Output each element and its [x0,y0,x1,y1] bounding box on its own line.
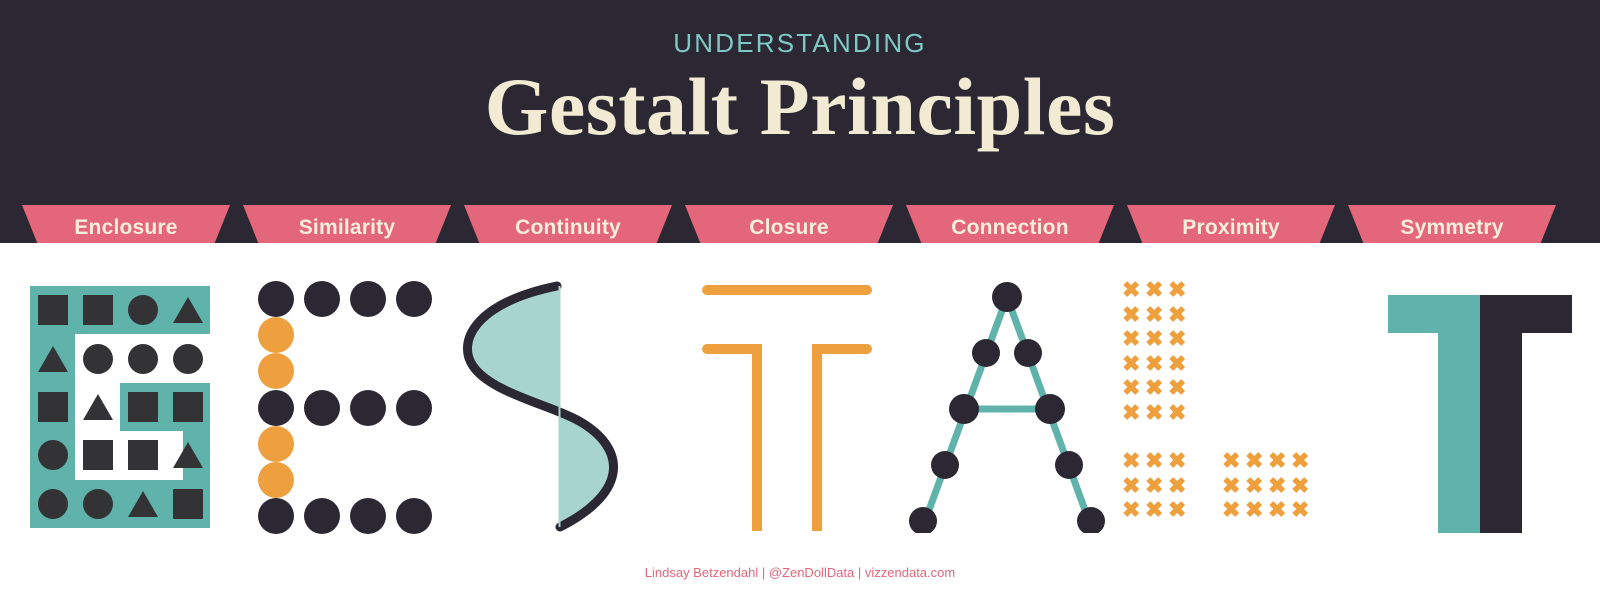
similarity-dot-orange [258,317,294,353]
similarity-dot-dark [396,281,432,317]
proximity-x-icon: ✖ [1291,475,1309,497]
enclosure-triangle-icon [38,346,68,372]
proximity-x-icon: ✖ [1168,450,1186,472]
proximity-x-icon: ✖ [1168,279,1186,301]
proximity-x-icon: ✖ [1122,377,1140,399]
proximity-x-icon: ✖ [1268,499,1286,521]
proximity-x-icon: ✖ [1145,499,1163,521]
proximity-x-icon: ✖ [1145,450,1163,472]
proximity-x-icon: ✖ [1145,402,1163,424]
similarity-dot-dark [258,281,294,317]
enclosure-square-icon [128,392,158,422]
enclosure-square-icon [83,440,113,470]
proximity-x-icon: ✖ [1122,328,1140,350]
header-kicker: UNDERSTANDING [0,28,1600,59]
proximity-x-icon: ✖ [1145,304,1163,326]
similarity-dot-dark [304,498,340,534]
proximity-x-icon: ✖ [1122,402,1140,424]
proximity-x-icon: ✖ [1122,450,1140,472]
proximity-x-icon: ✖ [1122,475,1140,497]
similarity-dot-dark [258,498,294,534]
infographic-canvas: UNDERSTANDING Gestalt Principles Enclosu… [0,0,1600,600]
closure-right-bracket [817,349,867,531]
illustration-enclosure [30,286,210,528]
enclosure-triangle-icon [83,394,113,420]
proximity-x-icon: ✖ [1145,475,1163,497]
enclosure-triangle-icon [173,297,203,323]
symmetry-right-half [1480,295,1572,533]
illustration-similarity [258,281,430,531]
proximity-x-icon: ✖ [1268,475,1286,497]
similarity-dot-orange [258,426,294,462]
page-title: Gestalt Principles [0,64,1600,150]
proximity-x-icon: ✖ [1122,499,1140,521]
enclosure-circle-icon [173,344,203,374]
enclosure-circle-icon [128,344,158,374]
proximity-x-icon: ✖ [1168,377,1186,399]
illustration-proximity: ✖✖✖✖✖✖✖✖✖✖✖✖✖✖✖✖✖✖✖✖✖✖✖✖✖✖✖✖✖✖✖✖✖✖✖✖✖✖✖ [1122,279,1342,531]
proximity-x-icon: ✖ [1145,377,1163,399]
proximity-x-icon: ✖ [1268,450,1286,472]
symmetry-left-half [1388,295,1480,533]
proximity-x-icon: ✖ [1168,353,1186,375]
enclosure-triangle-icon [128,491,158,517]
footer-credit: Lindsay Betzendahl | @ZenDollData | vizz… [0,565,1600,580]
closure-left-bracket [707,349,757,531]
proximity-x-icon: ✖ [1168,475,1186,497]
enclosure-square-icon [173,392,203,422]
enclosure-triangle-icon [173,442,203,468]
proximity-x-icon: ✖ [1245,499,1263,521]
proximity-x-icon: ✖ [1145,353,1163,375]
proximity-x-icon: ✖ [1222,450,1240,472]
proximity-x-icon: ✖ [1168,402,1186,424]
illustration-symmetry [1388,295,1572,533]
proximity-x-icon: ✖ [1245,475,1263,497]
enclosure-circle-icon [83,489,113,519]
similarity-dot-orange [258,353,294,389]
enclosure-circle-icon [83,344,113,374]
illustration-closure [695,281,880,531]
letter-illustration-area: ✖✖✖✖✖✖✖✖✖✖✖✖✖✖✖✖✖✖✖✖✖✖✖✖✖✖✖✖✖✖✖✖✖✖✖✖✖✖✖ [0,243,1600,600]
proximity-x-icon: ✖ [1168,499,1186,521]
similarity-dot-dark [350,498,386,534]
proximity-x-icon: ✖ [1168,328,1186,350]
enclosure-square-icon [38,392,68,422]
similarity-dot-dark [350,281,386,317]
similarity-dot-orange [258,462,294,498]
proximity-x-icon: ✖ [1245,450,1263,472]
proximity-x-icon: ✖ [1168,304,1186,326]
proximity-x-icon: ✖ [1122,279,1140,301]
proximity-x-icon: ✖ [1291,450,1309,472]
enclosure-circle-icon [38,489,68,519]
proximity-x-icon: ✖ [1122,304,1140,326]
similarity-dot-dark [304,390,340,426]
proximity-x-icon: ✖ [1122,353,1140,375]
proximity-x-icon: ✖ [1145,279,1163,301]
enclosure-circle-icon [38,440,68,470]
similarity-dot-dark [396,498,432,534]
enclosure-square-icon [128,440,158,470]
similarity-dot-dark [258,390,294,426]
proximity-x-icon: ✖ [1222,499,1240,521]
similarity-dot-dark [350,390,386,426]
illustration-connection [900,281,1115,533]
similarity-dot-dark [304,281,340,317]
proximity-x-icon: ✖ [1222,475,1240,497]
enclosure-square-icon [83,295,113,325]
illustration-continuity [455,281,670,533]
proximity-x-icon: ✖ [1145,328,1163,350]
similarity-dot-dark [396,390,432,426]
enclosure-circle-icon [128,295,158,325]
proximity-x-icon: ✖ [1291,499,1309,521]
enclosure-square-icon [38,295,68,325]
enclosure-square-icon [173,489,203,519]
